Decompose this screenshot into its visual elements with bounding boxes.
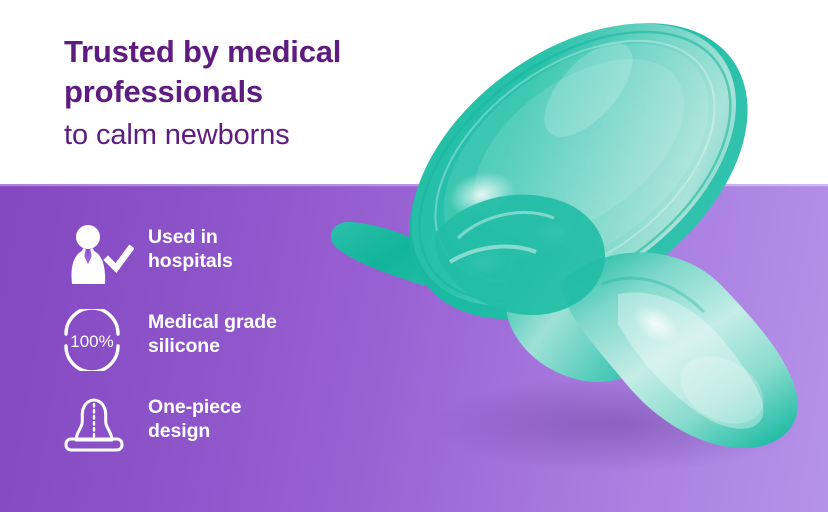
feature-item-medical-grade-silicone: 100% Medical grade silicone <box>60 307 360 392</box>
headline-line-2: professionals <box>64 76 424 107</box>
feature-label-one-piece-design: One-piece design <box>148 392 241 444</box>
feature-label-used-in-hospitals: Used in hospitals <box>148 222 233 274</box>
doctor-icon <box>60 222 148 286</box>
product-banner: Trusted by medical professionals to calm… <box>0 0 828 512</box>
hundred-percent-icon: 100% <box>60 307 148 371</box>
hundred-percent-badge-text: 100% <box>70 332 113 351</box>
pacifier-outline-icon <box>60 392 148 456</box>
feature-label-medical-grade-silicone: Medical grade silicone <box>148 307 277 359</box>
page-title: Trusted by medical professionals to calm… <box>64 36 424 150</box>
feature-list: Used in hospitals 100% Medical grade sil… <box>60 222 360 477</box>
headline-line-1: Trusted by medical <box>64 36 424 67</box>
feature-item-used-in-hospitals: Used in hospitals <box>60 222 360 307</box>
panel-top-edge-highlight <box>0 184 828 187</box>
headline-line-3: to calm newborns <box>64 121 424 150</box>
feature-item-one-piece-design: One-piece design <box>60 392 360 477</box>
